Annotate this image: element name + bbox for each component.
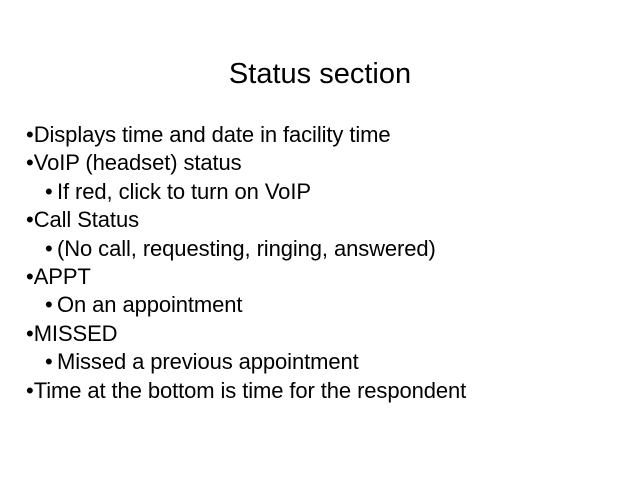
list-item-label: Missed a previous appointment bbox=[53, 349, 359, 374]
list-item-label: Time at the bottom is time for the respo… bbox=[34, 378, 466, 403]
bullet-icon: • bbox=[26, 122, 34, 147]
list-item: •Missed a previous appointment bbox=[26, 348, 626, 376]
list-item-label: (No call, requesting, ringing, answered) bbox=[53, 236, 436, 261]
bullet-list: •Displays time and date in facility time… bbox=[26, 121, 626, 405]
list-item-label: Call Status bbox=[34, 207, 139, 232]
bullet-icon: • bbox=[26, 207, 34, 232]
list-item-label: MISSED bbox=[34, 321, 118, 346]
bullet-icon: • bbox=[26, 321, 34, 346]
bullet-icon: • bbox=[45, 236, 53, 261]
bullet-icon: • bbox=[26, 264, 34, 289]
list-item-label: On an appointment bbox=[53, 292, 243, 317]
bullet-icon: • bbox=[45, 179, 53, 204]
list-item: •On an appointment bbox=[26, 291, 626, 319]
page-title: Status section bbox=[0, 57, 640, 91]
bullet-icon: • bbox=[26, 378, 34, 403]
bullet-icon: • bbox=[26, 150, 34, 175]
bullet-icon: • bbox=[45, 349, 53, 374]
list-item: •Displays time and date in facility time bbox=[26, 121, 626, 149]
list-item: •MISSED bbox=[26, 320, 626, 348]
list-item: •Call Status bbox=[26, 206, 626, 234]
list-item: •APPT bbox=[26, 263, 626, 291]
list-item: •(No call, requesting, ringing, answered… bbox=[26, 235, 626, 263]
list-item: •If red, click to turn on VoIP bbox=[26, 178, 626, 206]
list-item-label: APPT bbox=[34, 264, 91, 289]
bullet-icon: • bbox=[45, 292, 53, 317]
list-item-label: VoIP (headset) status bbox=[34, 150, 242, 175]
list-item: •VoIP (headset) status bbox=[26, 149, 626, 177]
list-item-label: Displays time and date in facility time bbox=[34, 122, 391, 147]
list-item-label: If red, click to turn on VoIP bbox=[53, 179, 311, 204]
list-item: •Time at the bottom is time for the resp… bbox=[26, 377, 626, 405]
slide-canvas: Status section •Displays time and date i… bbox=[0, 0, 640, 480]
